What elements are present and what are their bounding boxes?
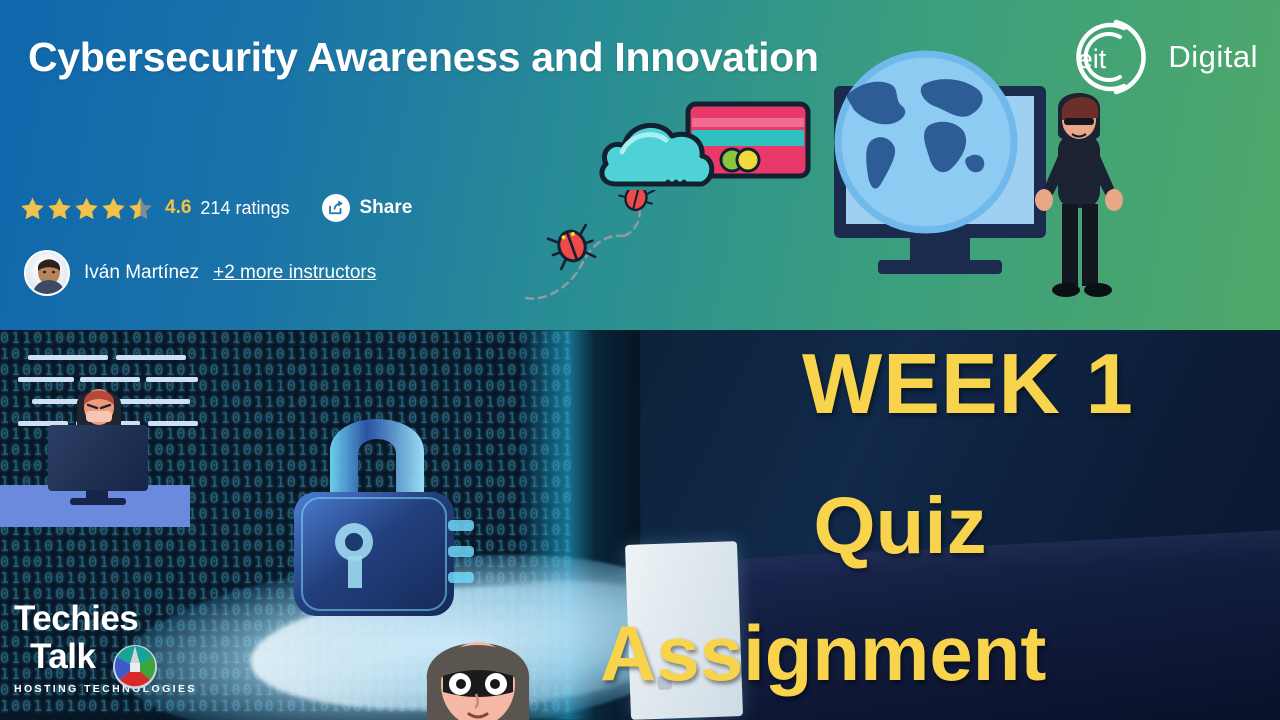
star-icon bbox=[20, 196, 45, 221]
techies-talk-mark-icon bbox=[112, 644, 158, 690]
star-half-icon bbox=[128, 196, 153, 221]
monitor-shape bbox=[48, 425, 148, 491]
star-icon bbox=[74, 196, 99, 221]
watermark-line-2: Talk bbox=[30, 637, 95, 677]
share-icon bbox=[322, 194, 350, 222]
bug-trail-illustration bbox=[516, 190, 666, 320]
eit-digital-wordmark: Digital bbox=[1168, 39, 1258, 75]
page-title: Cybersecurity Awareness and Innovation bbox=[28, 30, 828, 84]
star-icon bbox=[47, 196, 72, 221]
padlock-icon bbox=[272, 380, 502, 630]
headline-quiz: Quiz bbox=[640, 480, 1160, 572]
techies-talk-watermark: Techies Talk HOSTING TECHNOLOGIES bbox=[8, 597, 198, 715]
share-label: Share bbox=[359, 197, 412, 219]
instructor-name: Iván Martínez bbox=[84, 262, 199, 284]
svg-text:eit: eit bbox=[1078, 44, 1107, 74]
instructor-row: Iván Martínez +2 more instructors bbox=[24, 250, 376, 296]
video-thumbnail-screen: Cybersecurity Awareness and Innovation 4… bbox=[0, 0, 1280, 720]
rating-row: 4.6 214 ratings Share bbox=[20, 194, 412, 222]
monitor-base bbox=[70, 498, 126, 505]
avatar bbox=[24, 250, 70, 296]
hacker-figure bbox=[1035, 93, 1123, 297]
rating-stars bbox=[20, 196, 153, 221]
headline-week: WEEK 1 bbox=[678, 336, 1258, 434]
course-banner: Cybersecurity Awareness and Innovation 4… bbox=[0, 0, 1280, 330]
masked-thief-icon bbox=[413, 610, 543, 720]
headline-assignment: Assignment bbox=[600, 608, 1280, 699]
star-icon bbox=[101, 196, 126, 221]
watermark-tagline: HOSTING TECHNOLOGIES bbox=[14, 683, 197, 695]
eit-mark-icon: eit bbox=[1062, 18, 1154, 96]
rating-count: 214 ratings bbox=[200, 198, 289, 219]
eit-digital-logo: eit Digital bbox=[1062, 18, 1258, 96]
share-button[interactable]: Share bbox=[322, 194, 412, 222]
watermark-line-1: Techies bbox=[14, 599, 138, 639]
more-instructors-link[interactable]: +2 more instructors bbox=[213, 262, 376, 284]
rating-value: 4.6 bbox=[165, 197, 191, 219]
